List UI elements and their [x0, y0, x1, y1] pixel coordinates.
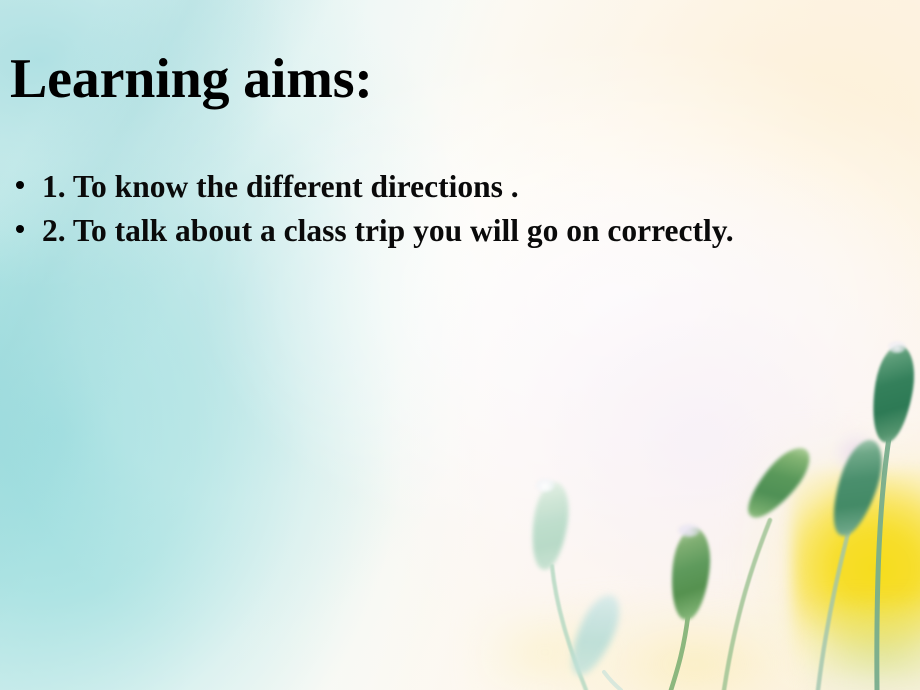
list-item: 1. To know the different directions .: [8, 167, 848, 207]
presentation-slide: Learning aims: 1. To know the different …: [0, 0, 920, 690]
learning-aims-list: 1. To know the different directions . 2.…: [8, 167, 848, 255]
slide-title: Learning aims:: [10, 50, 373, 109]
list-item-label: 2. To talk about a class trip you will g…: [42, 211, 802, 251]
round-bullet-icon: [16, 225, 24, 233]
round-bullet-icon: [16, 181, 24, 189]
list-item: 2. To talk about a class trip you will g…: [8, 211, 848, 251]
list-item-label: 1. To know the different directions .: [42, 167, 848, 207]
slide-text-layer: Learning aims: 1. To know the different …: [0, 0, 920, 690]
